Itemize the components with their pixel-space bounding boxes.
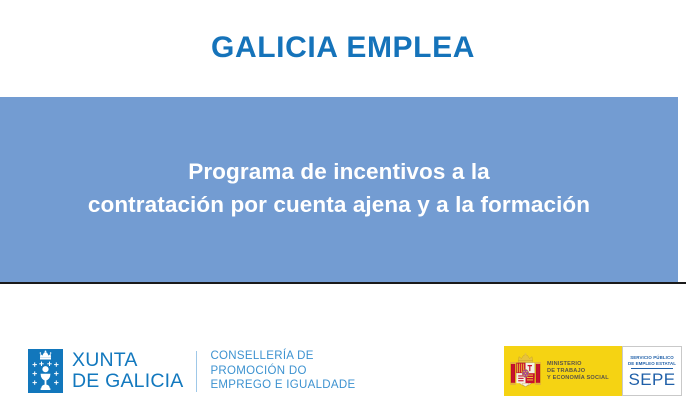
spain-coat-of-arms-icon: [509, 352, 542, 390]
title-area: GALICIA EMPLEA: [0, 0, 686, 97]
ministerio-wordmark: MINISTERIO DE TRABAJO Y ECONOMÍA SOCIAL: [547, 361, 609, 382]
program-banner-line-1: Programa de incentivos a la: [19, 155, 659, 188]
conselleria-line-3: EMPREGO E IGUALDADE: [210, 378, 355, 393]
conselleria-wordmark: CONSELLERÍA DE PROMOCIÓN DO EMPREGO E IG…: [210, 349, 355, 393]
ministerio-line-2: DE TRABAJO: [547, 368, 609, 375]
slide-root: GALICIA EMPLEA Programa de incentivos a …: [0, 0, 686, 410]
sepe-tagline: SERVICIO PÚBLICO DE EMPLEO ESTATAL: [628, 355, 676, 366]
program-banner-text: Programa de incentivos a la contratación…: [19, 155, 659, 225]
gobierno-logos: MINISTERIO DE TRABAJO Y ECONOMÍA SOCIAL …: [504, 346, 682, 396]
xunta-de-galicia-logo: XUNTA DE GALICIA CONSELLERÍA DE PROMOCIÓ…: [28, 349, 355, 393]
ministerio-line-3: Y ECONOMÍA SOCIAL: [547, 375, 609, 382]
xunta-wordmark-line-2: DE GALICIA: [72, 371, 183, 392]
xunta-wordmark: XUNTA DE GALICIA: [72, 350, 183, 392]
program-banner: Programa de incentivos a la contratación…: [0, 97, 678, 282]
sepe-tagline-line-1: SERVICIO PÚBLICO: [628, 355, 676, 361]
conselleria-line-1: CONSELLERÍA DE: [210, 349, 355, 364]
sepe-wordmark: SEPE: [629, 370, 676, 389]
sepe-logo: SERVICIO PÚBLICO DE EMPLEO ESTATAL SEPE: [622, 346, 682, 396]
ministerio-trabajo-logo: MINISTERIO DE TRABAJO Y ECONOMÍA SOCIAL: [504, 346, 622, 396]
footer-logos: XUNTA DE GALICIA CONSELLERÍA DE PROMOCIÓ…: [0, 284, 686, 410]
xunta-wordmark-line-1: XUNTA: [72, 350, 183, 371]
program-banner-line-2: contratación por cuenta ajena y a la for…: [19, 188, 659, 221]
logo-divider: [196, 351, 197, 392]
conselleria-line-2: PROMOCIÓN DO: [210, 364, 355, 379]
sepe-divider: [631, 368, 673, 369]
ministerio-line-1: MINISTERIO: [547, 361, 609, 368]
galicia-coat-of-arms-icon: [28, 349, 63, 393]
sepe-tagline-line-2: DE EMPLEO ESTATAL: [628, 361, 676, 367]
page-title: GALICIA EMPLEA: [0, 30, 686, 66]
program-banner-inner: Programa de incentivos a la contratación…: [0, 97, 678, 282]
